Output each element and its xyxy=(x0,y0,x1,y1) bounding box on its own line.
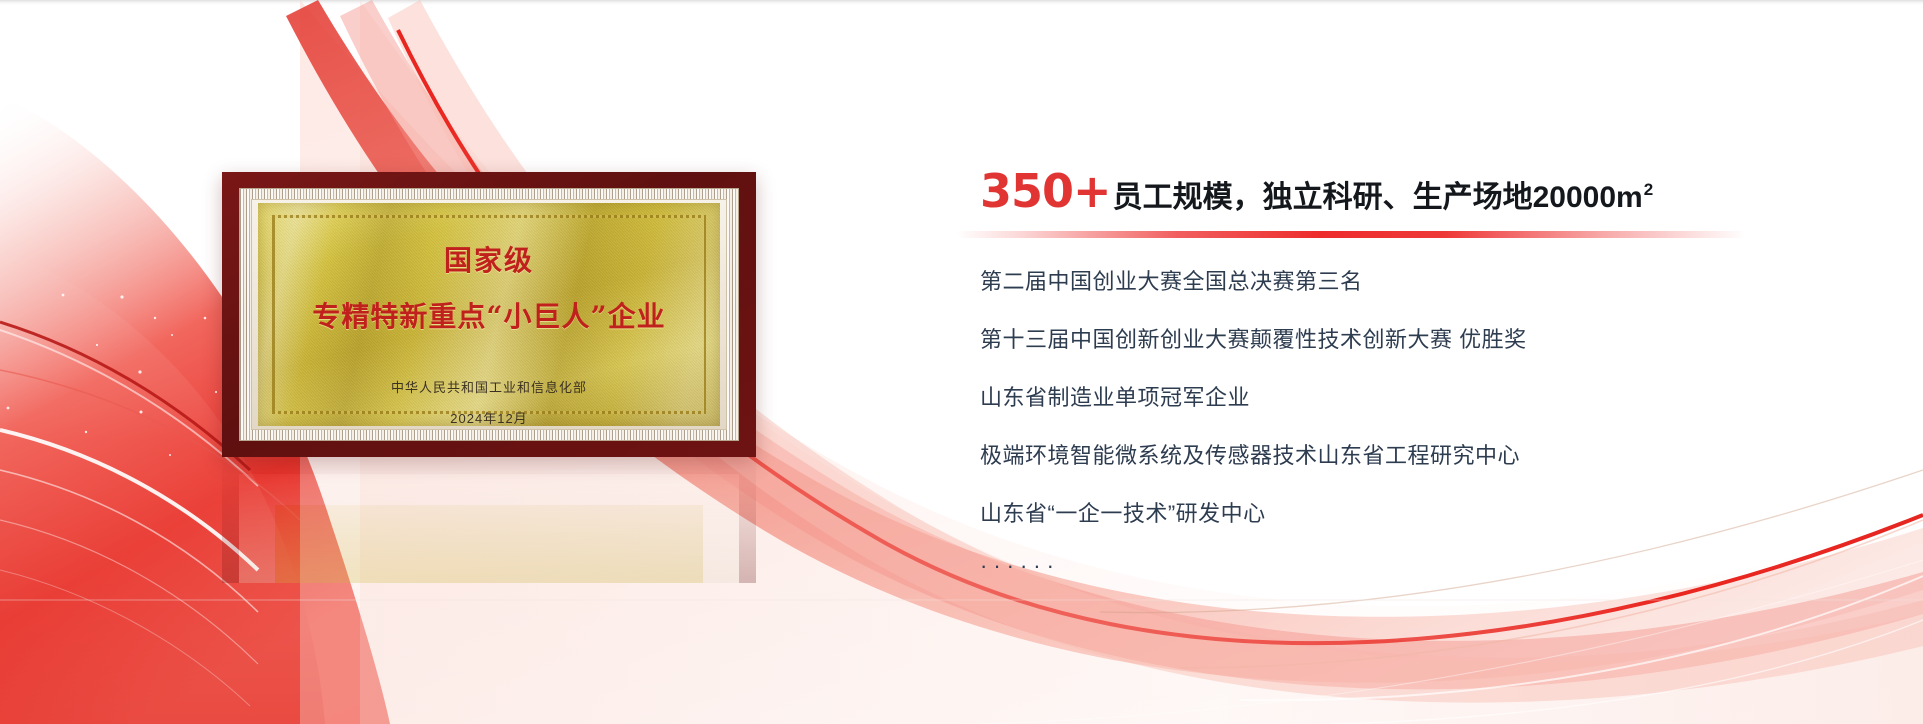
award-plaque: 国家级 专精特新重点“小巨人”企业 中华人民共和国工业和信息化部 2024年12… xyxy=(222,172,756,457)
list-item: 山东省制造业单项冠军企业 xyxy=(980,387,1880,409)
plaque-frame: 国家级 专精特新重点“小巨人”企业 中华人民共和国工业和信息化部 2024年12… xyxy=(222,172,756,457)
headline: 350+ 员工规模，独立科研、生产场地20000m 2 xyxy=(980,168,1880,214)
plaque-reflection xyxy=(222,458,756,583)
plaque-gold-face: 国家级 专精特新重点“小巨人”企业 中华人民共和国工业和信息化部 2024年12… xyxy=(258,203,720,426)
headline-text: 员工规模，独立科研、生产场地20000m xyxy=(1113,183,1643,213)
plaque-text-block: 国家级 专精特新重点“小巨人”企业 中华人民共和国工业和信息化部 2024年12… xyxy=(258,203,720,426)
list-item: 第二届中国创业大赛全国总决赛第三名 xyxy=(980,271,1880,293)
honor-list: 第二届中国创业大赛全国总决赛第三名 第十三届中国创新创业大赛颠覆性技术创新大赛 … xyxy=(980,271,1880,577)
content-column: 350+ 员工规模，独立科研、生产场地20000m 2 第二届中国创业大赛全国总… xyxy=(980,168,1880,577)
headline-number: 350+ xyxy=(980,168,1111,214)
list-ellipsis: ······ xyxy=(980,555,1880,577)
list-item: 极端环境智能微系统及传感器技术山东省工程研究中心 xyxy=(980,445,1880,467)
honors-banner: 国家级 专精特新重点“小巨人”企业 中华人民共和国工业和信息化部 2024年12… xyxy=(0,0,1923,724)
list-item: 山东省“一企一技术”研发中心 xyxy=(980,503,1880,525)
list-item: 第十三届中国创新创业大赛颠覆性技术创新大赛 优胜奖 xyxy=(980,329,1880,351)
plaque-date: 2024年12月 xyxy=(450,408,527,426)
headline-divider xyxy=(956,231,1746,238)
plaque-title-line1: 国家级 xyxy=(444,239,534,279)
plaque-issuer: 中华人民共和国工业和信息化部 xyxy=(391,377,587,396)
headline-superscript: 2 xyxy=(1644,181,1653,198)
plaque-title-line2: 专精特新重点“小巨人”企业 xyxy=(312,295,665,335)
